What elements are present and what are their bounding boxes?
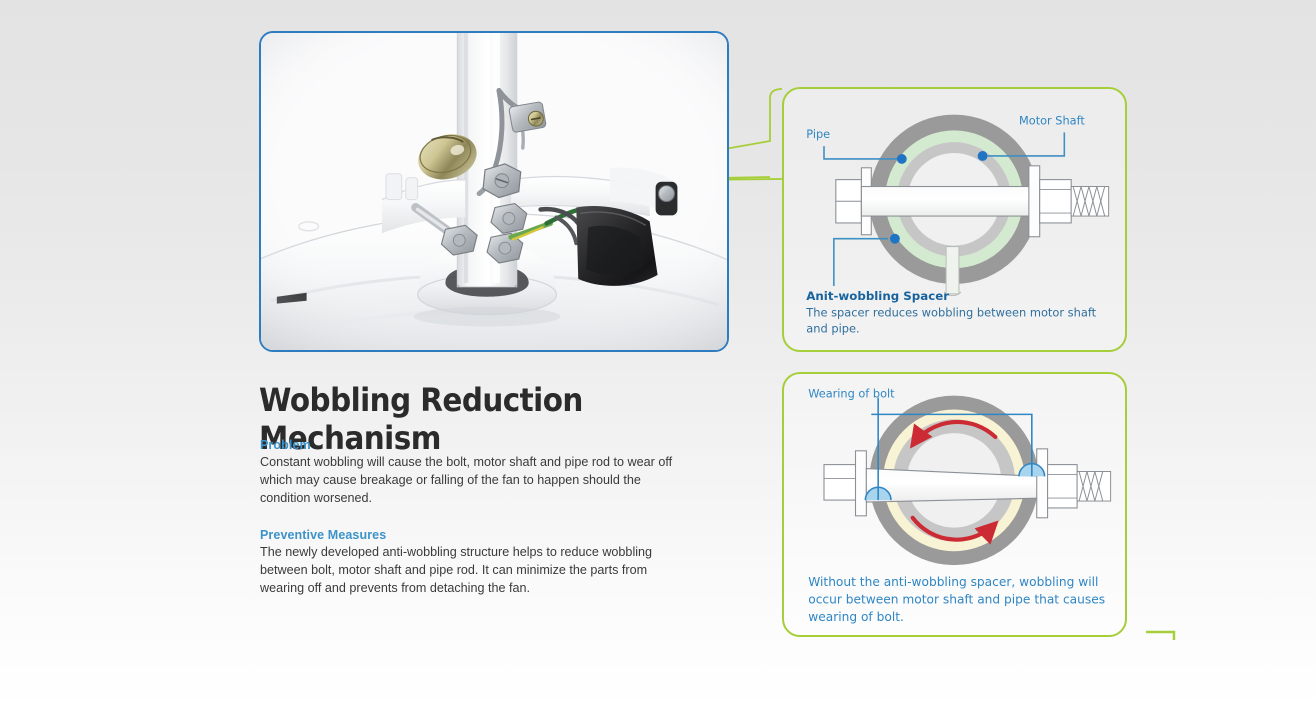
label-pipe: Pipe (806, 127, 830, 141)
section-preventive-title: Preventive Measures (260, 528, 690, 542)
section-preventive-measures: Preventive Measures The newly developed … (260, 528, 690, 598)
page-root: Wobbling Reduction Mechanism Problem Con… (0, 0, 1316, 708)
without-spacer-illustration: Wearing of bolt Without the anti-wobblin… (784, 374, 1125, 635)
caption-title-spacer: Anit-wobbling Spacer (806, 289, 949, 303)
section-preventive-body: The newly developed anti-wobbling struct… (260, 543, 690, 598)
section-problem-title: Problem (260, 438, 690, 452)
pipe-marker-dot (897, 154, 907, 164)
caption-without-line3: wearing of bolt. (808, 610, 904, 624)
with-spacer-illustration: Pipe Motor Shaft Anit-wobbling Spacer Th… (784, 89, 1125, 350)
caption-without-line1: Without the anti-wobbling spacer, wobbli… (808, 575, 1098, 589)
diagram-panel-without-spacer: Wearing of bolt Without the anti-wobblin… (782, 372, 1127, 637)
caption-body-line1: The spacer reduces wobbling between moto… (805, 306, 1096, 320)
caption-body-line2: and pipe. (806, 321, 859, 335)
ceiling-fan-motor-photo (261, 33, 727, 351)
section-problem: Problem Constant wobbling will cause the… (260, 438, 690, 508)
section-problem-body: Constant wobbling will cause the bolt, m… (260, 453, 690, 508)
label-motor-shaft: Motor Shaft (1019, 113, 1085, 127)
label-wearing-of-bolt: Wearing of bolt (808, 387, 895, 401)
fan-motor-photo-frame (259, 31, 729, 352)
motor-shaft-marker-dot (978, 151, 988, 161)
diagram-panel-with-spacer: Pipe Motor Shaft Anit-wobbling Spacer Th… (782, 87, 1127, 352)
caption-without-line2: occur between motor shaft and pipe that … (808, 592, 1105, 606)
spacer-marker-dot (890, 234, 900, 244)
